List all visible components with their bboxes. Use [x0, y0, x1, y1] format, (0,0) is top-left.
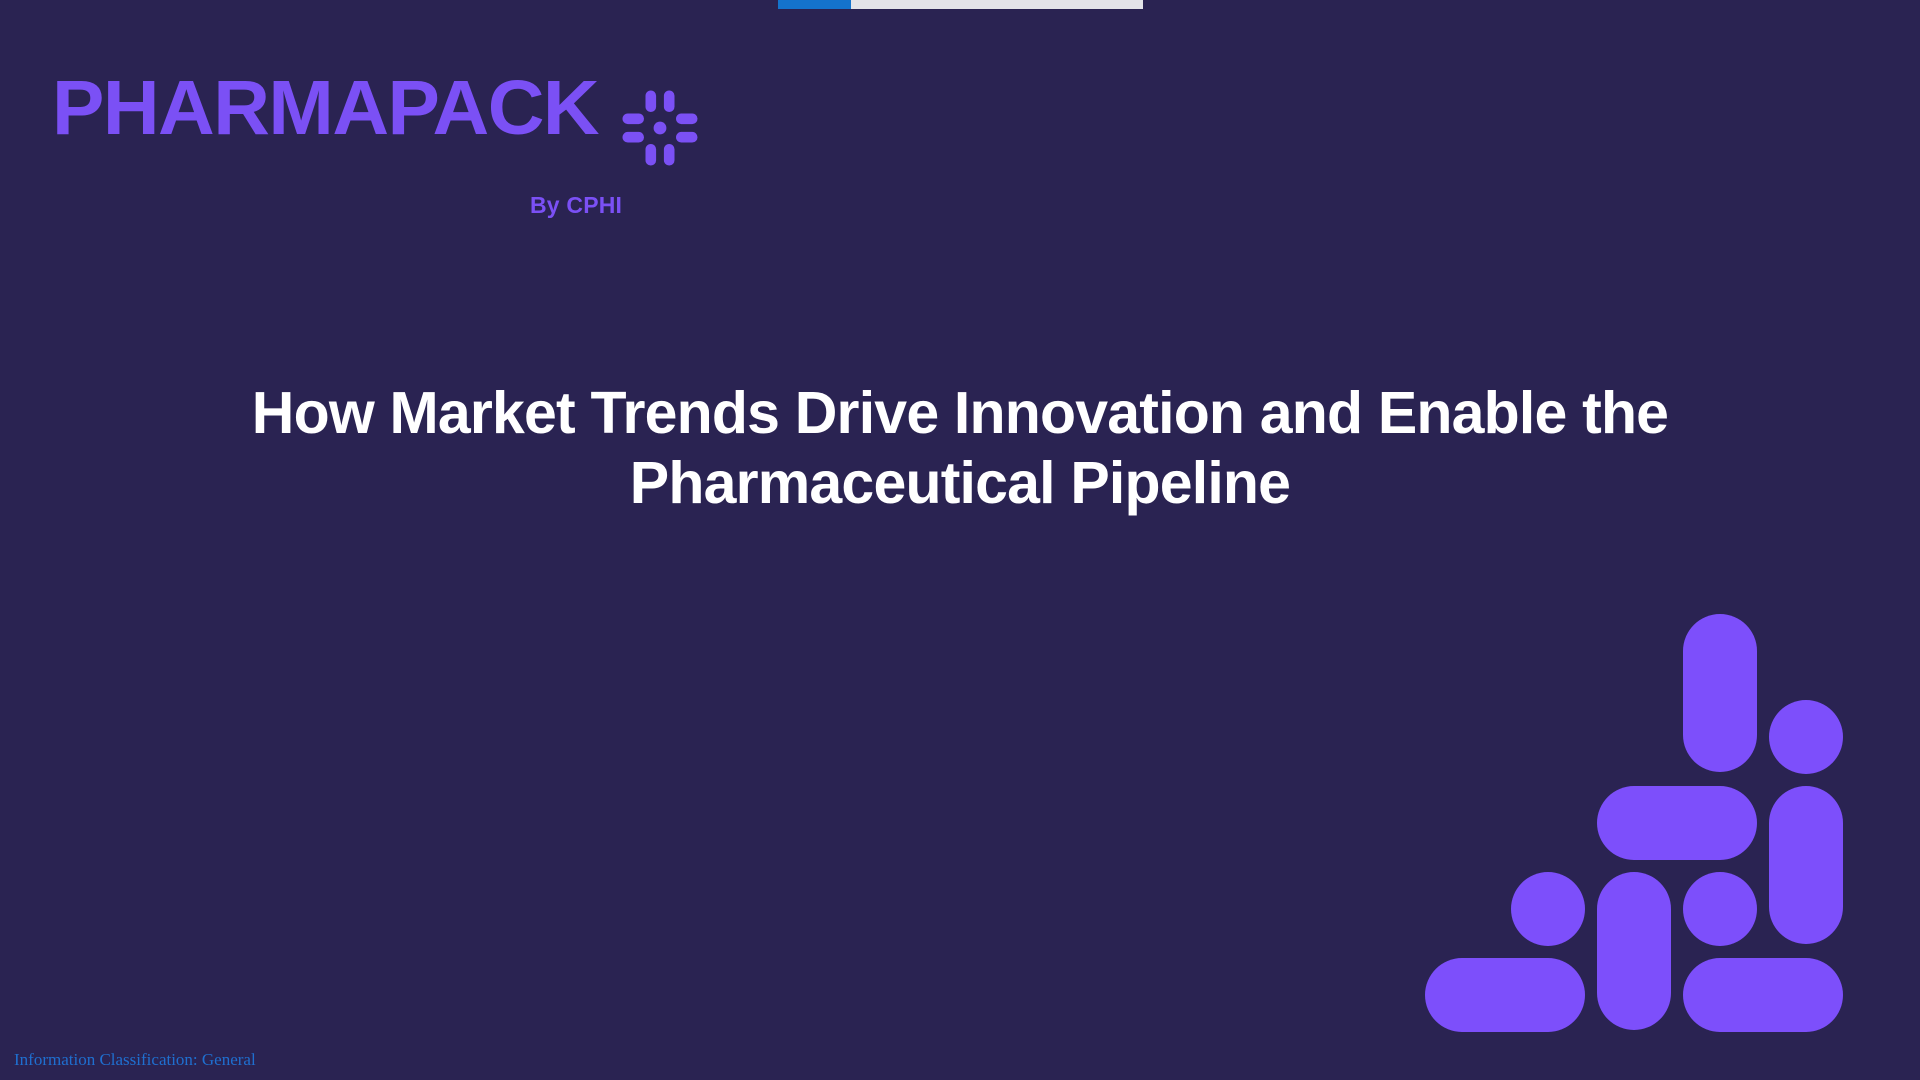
- pharmapack-radial-dots-icon: [620, 88, 700, 168]
- deco-shape-tall-pill-right: [1769, 786, 1843, 944]
- deco-shape-circle-center: [1683, 872, 1757, 946]
- logo-subtitle: By CPHI: [530, 192, 622, 219]
- information-classification-label: Information Classification: General: [14, 1050, 256, 1070]
- pharmapack-logo: PHARMAPACK By CPHI: [52, 46, 652, 176]
- deco-shape-wide-pill-bottom-l: [1425, 958, 1585, 1032]
- pharmapack-pill-cluster: [1425, 608, 1865, 1018]
- deco-shape-wide-pill-bottom-r: [1683, 958, 1843, 1032]
- deco-shape-circle-left: [1511, 872, 1585, 946]
- logo-wordmark: PHARMAPACK: [52, 70, 598, 147]
- deco-shape-tall-pill-top: [1683, 614, 1757, 772]
- deco-shape-tall-pill-center: [1597, 872, 1671, 1030]
- slide-title-block: How Market Trends Drive Innovation and E…: [0, 378, 1920, 518]
- deco-shape-wide-pill-mid: [1597, 786, 1757, 860]
- presentation-slide: PHARMAPACK By CPHI How Market Trends Dri…: [0, 0, 1920, 1080]
- page-title: How Market Trends Drive Innovation and E…: [180, 378, 1740, 518]
- progress-bar-fill: [778, 0, 851, 9]
- presentation-progress-bar[interactable]: [778, 0, 1143, 9]
- deco-shape-circle-top-right: [1769, 700, 1843, 774]
